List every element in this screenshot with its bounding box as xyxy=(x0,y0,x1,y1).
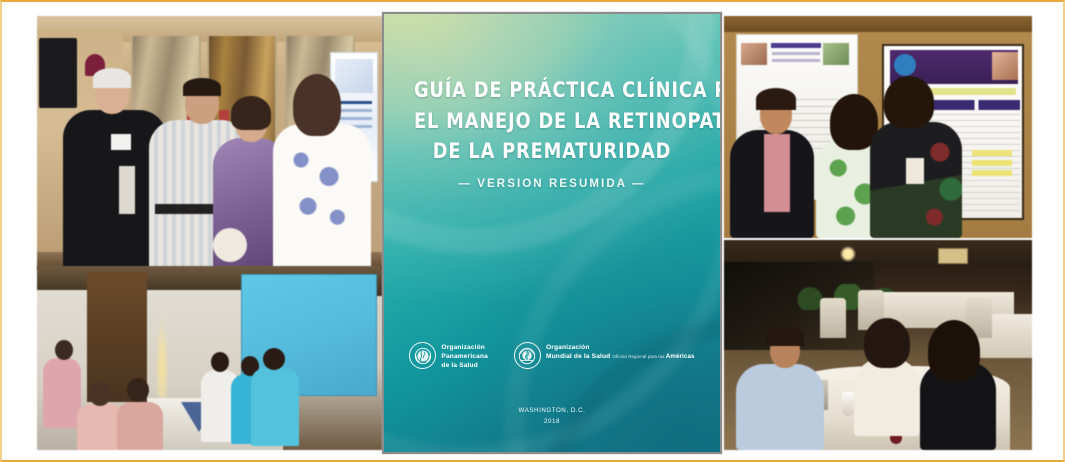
lobby-person-4-hair xyxy=(293,74,341,136)
workshop-person-4-head xyxy=(211,352,229,372)
lobby-group-photo xyxy=(37,16,382,270)
who-regional-office-text: Oficina Regional para las Américas xyxy=(612,354,694,359)
poster-right-callout-2 xyxy=(972,160,1012,166)
workshop-person-1-head xyxy=(55,340,73,360)
lobby-person-3-hair xyxy=(231,96,271,130)
paho-line-1: Organización xyxy=(441,344,485,351)
lobby-person-3-hat xyxy=(213,228,247,262)
dinner-person-2-hair xyxy=(864,318,910,368)
workshop-person-1-body xyxy=(43,358,81,428)
poster-left-image-1 xyxy=(741,43,767,65)
poster-right-callout-1 xyxy=(972,150,1012,156)
dinner-group-photo xyxy=(724,240,1032,450)
publication-cover: GUÍA DE PRÁCTICA CLÍNICA PARA EL MANEJO … xyxy=(382,12,722,454)
who-line-1: Organización xyxy=(546,344,590,351)
who-sub-prefix: Oficina Regional para las xyxy=(612,354,664,359)
who-sub-americas: Américas xyxy=(666,353,695,360)
lobby-person-1-hair xyxy=(93,68,131,88)
lobby-wall-screen xyxy=(39,38,77,108)
who-logo: Organización Mundial de la Salud Oficina… xyxy=(514,342,695,369)
cover-collage-page: GUÍA DE PRÁCTICA CLÍNICA PARA EL MANEJO … xyxy=(0,0,1065,462)
dinner-glass-1 xyxy=(842,392,854,416)
poster-person-3-hair xyxy=(884,76,934,128)
workshop-person-6-body xyxy=(251,368,299,446)
dinner-person-2-body xyxy=(854,358,920,436)
who-line-2: Mundial de la Salud xyxy=(546,353,610,360)
lobby-person-1-badge xyxy=(111,134,131,150)
workshop-session-photo xyxy=(37,266,382,450)
who-logo-text: Organización Mundial de la Salud Oficina… xyxy=(546,342,695,362)
cover-logo-row: Organización Panamericana de la Salud xyxy=(384,342,720,370)
cover-subtitle: — VERSION RESUMIDA — xyxy=(384,178,720,190)
workshop-person-3-body xyxy=(117,402,163,450)
poster-board-frame xyxy=(724,16,1032,32)
paho-logo: Organización Panamericana de la Salud xyxy=(409,342,488,370)
dinner-person-1-body xyxy=(736,364,824,450)
dinner-person-3-hair xyxy=(928,320,980,382)
poster-left-heading xyxy=(771,43,821,48)
poster-session-photo xyxy=(724,16,1032,238)
paho-line-2: Panamericana xyxy=(441,353,488,360)
dinner-chair-1 xyxy=(820,298,846,338)
cover-title: GUÍA DE PRÁCTICA CLÍNICA PARA EL MANEJO … xyxy=(414,76,690,168)
who-serpent-globe-emblem-icon xyxy=(514,342,541,369)
cover-imprint: WASHINGTON, D.C. 2018 xyxy=(384,406,720,428)
poster-left-image-2 xyxy=(823,43,849,65)
workshop-person-3-head xyxy=(127,378,149,402)
dinner-hanging-lamp xyxy=(840,246,856,262)
poster-right-callout-3 xyxy=(972,170,1012,176)
cover-title-line-2: EL MANEJO DE LA RETINOPATÍA xyxy=(414,107,690,138)
workshop-person-2-head xyxy=(89,382,111,406)
cover-swirl-4 xyxy=(534,314,722,454)
cover-title-line-3: DE LA PREMATURIDAD xyxy=(414,137,690,168)
dinner-awning xyxy=(724,240,1032,262)
poster-person-3-badge xyxy=(906,158,924,184)
paho-logo-text: Organización Panamericana de la Salud xyxy=(441,342,488,370)
paho-line-3: de la Salud xyxy=(441,362,477,369)
workshop-person-6-head xyxy=(263,348,285,370)
dinner-wall-lamp xyxy=(938,248,968,264)
poster-right-image xyxy=(992,52,1018,80)
cover-place-city: WASHINGTON, D.C. xyxy=(384,406,720,417)
poster-person-1-shirt xyxy=(764,134,790,212)
lobby-person-1-lanyard xyxy=(119,166,135,214)
poster-person-1-hair xyxy=(756,88,796,110)
lobby-person-2-hair xyxy=(183,78,221,96)
cover-place-year: 2018 xyxy=(384,417,720,428)
cover-title-line-1: GUÍA DE PRÁCTICA CLÍNICA PARA xyxy=(414,76,690,107)
lobby-person-4-blouse-pattern xyxy=(287,138,357,248)
globe-laurel-emblem-icon xyxy=(409,342,436,369)
dinner-person-1-hair xyxy=(766,326,804,346)
